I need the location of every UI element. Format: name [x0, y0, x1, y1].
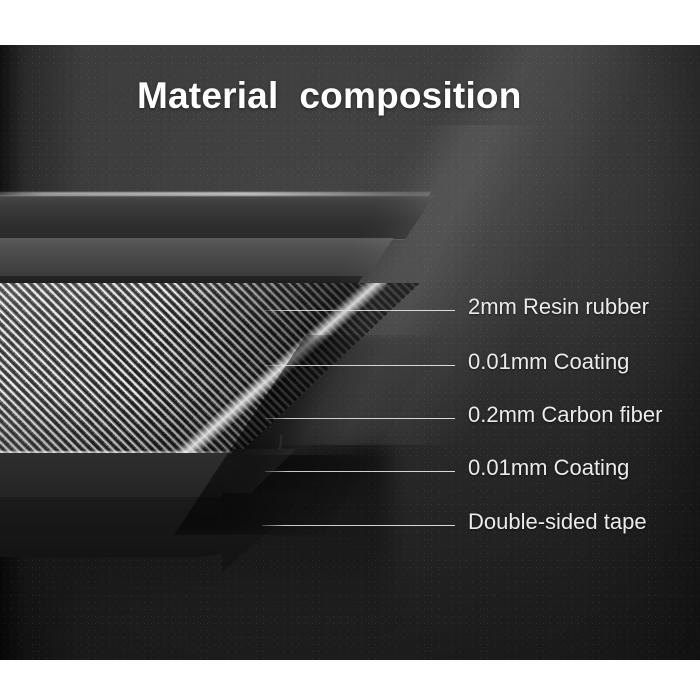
callout-leader-line	[262, 525, 455, 526]
callout-leader-line	[265, 365, 455, 366]
callout-leader-line	[265, 418, 455, 419]
callout-leader-line	[265, 471, 455, 472]
callout-leader-line	[265, 310, 455, 311]
callout-label: 0.01mm Coating	[468, 349, 629, 375]
layer-band-resin-highlight	[0, 192, 431, 196]
layer-band-coating-top	[0, 238, 393, 278]
callout-label: 0.01mm Coating	[468, 455, 629, 481]
product-photo: Material composition 2mm Resin rubber0.0…	[0, 45, 700, 660]
layer-band-resin-rubber	[0, 195, 435, 239]
callout-label: 2mm Resin rubber	[468, 294, 649, 320]
image-frame: Material composition 2mm Resin rubber0.0…	[0, 0, 700, 700]
callout-label: 0.2mm Carbon fiber	[468, 402, 662, 428]
callout-label: Double-sided tape	[468, 509, 647, 535]
page-title: Material composition	[137, 75, 522, 117]
